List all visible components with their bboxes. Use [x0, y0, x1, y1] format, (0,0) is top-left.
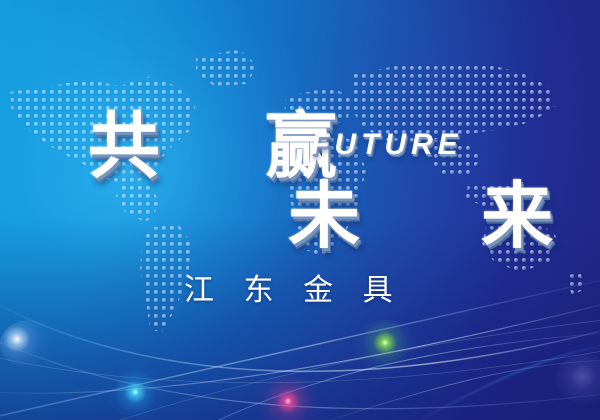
headline-stage: 共 赢 FUTURE 未 来 江 东 金 具: [0, 0, 600, 420]
headline-latin: FUTURE: [311, 130, 463, 160]
headline-secondary: 未 来: [288, 180, 600, 252]
brand-name: 江 东 金 具: [184, 276, 403, 306]
promo-banner: 共 赢 FUTURE 未 来 江 东 金 具: [0, 0, 600, 420]
